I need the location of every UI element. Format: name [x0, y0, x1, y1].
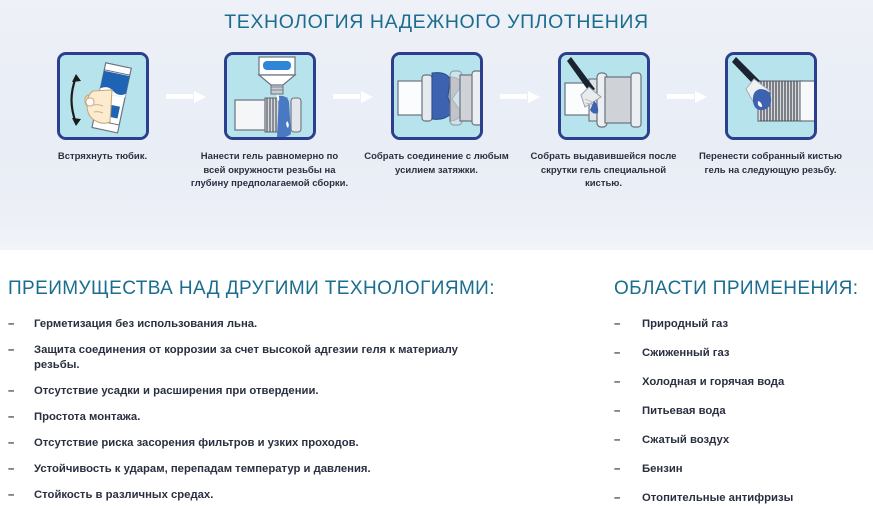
applications-column: ОБЛАСТИ ПРИМЕНЕНИЯ: – Природный газ – Сж… — [580, 250, 873, 498]
advantage-text: Герметизация без использования льна. — [34, 317, 504, 332]
application-text: Природный газ — [642, 317, 873, 332]
advantage-text: Защита соединения от коррозии за счет вы… — [34, 343, 504, 373]
process-steps-row — [0, 52, 873, 152]
list-item: – Отсутствие риска засорения фильтров и … — [8, 436, 580, 451]
advantage-text: Устойчивость к ударам, перепадам темпера… — [34, 462, 504, 477]
list-item: – Сжатый воздух — [614, 433, 873, 448]
bullet-dash-icon: – — [614, 404, 642, 419]
arrow-1 — [149, 52, 224, 140]
bullet-dash-icon: – — [614, 462, 642, 477]
list-item: – Бензин — [614, 462, 873, 477]
step-4 — [558, 52, 650, 140]
advantage-text: Простота монтажа. — [34, 410, 504, 425]
list-item: – Холодная и горячая вода — [614, 375, 873, 390]
list-item: – Герметизация без использования льна. — [8, 317, 580, 332]
application-text: Сжиженный газ — [642, 346, 873, 361]
bullet-dash-icon: – — [8, 343, 34, 358]
list-item: – Стойкость в различных средах. — [8, 488, 580, 503]
step-4-caption: Собрать выдавившейся после скрутки гель … — [524, 150, 684, 191]
application-text: Сжатый воздух — [642, 433, 873, 448]
step-1-caption: Встряхнуть тюбик. — [23, 150, 183, 164]
bullet-dash-icon: – — [614, 346, 642, 361]
step-3-caption: Собрать соединение с любым усилием затяж… — [357, 150, 517, 177]
bullet-dash-icon: – — [614, 317, 642, 332]
arrow-3 — [483, 52, 558, 140]
application-text: Отопительные антифризы — [642, 491, 873, 506]
list-item: – Питьевая вода — [614, 404, 873, 419]
step-2-caption: Нанести гель равномерно по всей окружнос… — [190, 150, 350, 191]
step-5 — [725, 52, 817, 140]
arrow-right-icon — [333, 91, 373, 101]
list-item: – Природный газ — [614, 317, 873, 332]
arrow-2 — [316, 52, 391, 140]
transfer-gel-brush-icon — [725, 52, 817, 140]
bullet-dash-icon: – — [8, 384, 34, 399]
list-item: – Сжиженный газ — [614, 346, 873, 361]
application-text: Холодная и горячая вода — [642, 375, 873, 390]
advantages-column: ПРЕИМУЩЕСТВА НАД ДРУГИМИ ТЕХНОЛОГИЯМИ: –… — [0, 250, 580, 498]
list-item: – Отсутствие усадки и расширения при отв… — [8, 384, 580, 399]
bullet-dash-icon: – — [8, 462, 34, 477]
arrow-right-icon — [667, 91, 707, 101]
advantages-list: – Герметизация без использования льна. –… — [8, 317, 580, 503]
advantage-text: Отсутствие риска засорения фильтров и уз… — [34, 436, 504, 451]
list-item: – Устойчивость к ударам, перепадам темпе… — [8, 462, 580, 477]
arrow-right-icon — [500, 91, 540, 101]
page-title: ТЕХНОЛОГИЯ НАДЕЖНОГО УПЛОТНЕНИЯ — [0, 0, 873, 34]
brush-collect-gel-icon — [558, 52, 650, 140]
arrow-4 — [650, 52, 725, 140]
shake-tube-icon — [57, 52, 149, 140]
applications-list: – Природный газ – Сжиженный газ – Холодн… — [614, 317, 873, 506]
application-text: Бензин — [642, 462, 873, 477]
bullet-dash-icon: – — [8, 436, 34, 451]
step-1 — [57, 52, 149, 140]
step-3 — [391, 52, 483, 140]
assemble-joint-icon — [391, 52, 483, 140]
bullet-dash-icon: – — [614, 375, 642, 390]
advantage-text: Отсутствие усадки и расширения при отвер… — [34, 384, 504, 399]
applications-heading: ОБЛАСТИ ПРИМЕНЕНИЯ: — [614, 278, 873, 300]
bullet-dash-icon: – — [8, 410, 34, 425]
technology-banner: ТЕХНОЛОГИЯ НАДЕЖНОГО УПЛОТНЕНИЯ — [0, 0, 873, 250]
list-item: – Отопительные антифризы — [614, 491, 873, 506]
list-item: – Защита соединения от коррозии за счет … — [8, 343, 580, 373]
arrow-right-icon — [166, 91, 206, 101]
bullet-dash-icon: – — [614, 433, 642, 448]
application-text: Питьевая вода — [642, 404, 873, 419]
list-item: – Простота монтажа. — [8, 410, 580, 425]
bullet-dash-icon: – — [614, 491, 642, 506]
benefits-and-applications-section: ПРЕИМУЩЕСТВА НАД ДРУГИМИ ТЕХНОЛОГИЯМИ: –… — [0, 250, 873, 498]
advantages-heading: ПРЕИМУЩЕСТВА НАД ДРУГИМИ ТЕХНОЛОГИЯМИ: — [8, 278, 580, 300]
bullet-dash-icon: – — [8, 317, 34, 332]
advantage-text: Стойкость в различных средах. — [34, 488, 504, 503]
apply-gel-to-thread-icon — [224, 52, 316, 140]
step-2 — [224, 52, 316, 140]
bullet-dash-icon: – — [8, 488, 34, 503]
step-5-caption: Перенести собранный кистью гель на следу… — [691, 150, 851, 177]
